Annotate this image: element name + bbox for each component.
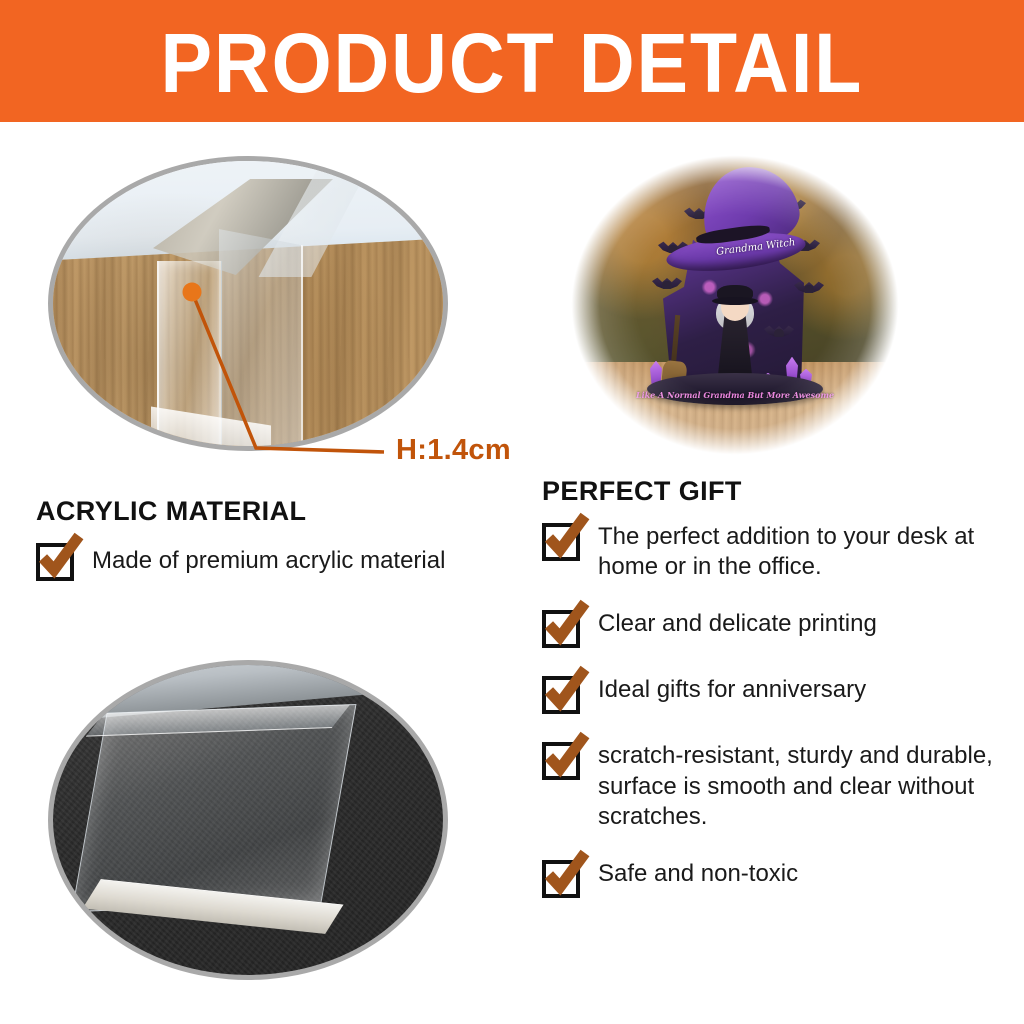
section-perfect-gift: PERFECT GIFT The perfect addition to you… [542, 476, 1012, 924]
checkmark-icon [540, 511, 592, 563]
section-acrylic-material: ACRYLIC MATERIAL Made of premium acrylic… [36, 496, 536, 581]
list-item: scratch-resistant, sturdy and durable, s… [542, 740, 1012, 832]
checkbox-checked-icon[interactable] [36, 543, 74, 581]
page-title: PRODUCT DETAIL [161, 21, 864, 105]
checkmark-icon [540, 730, 592, 782]
photo-product-standee: Grandma Witch Like A Normal Grandma But … [570, 154, 900, 456]
list-item: The perfect addition to your desk at hom… [542, 521, 1012, 582]
standee-base-text: Like A Normal Grandma But More Awesome [636, 390, 834, 400]
checkmark-icon [540, 848, 592, 900]
checkmark-icon [34, 531, 86, 583]
list-item-label: Made of premium acrylic material [92, 545, 445, 576]
photo-acrylic-slab-on-slate [48, 660, 448, 980]
checkbox-checked-icon[interactable] [542, 860, 580, 898]
checkmark-icon [540, 664, 592, 716]
feature-list-acrylic-material: Made of premium acrylic material [36, 541, 536, 581]
list-item: Ideal gifts for anniversary [542, 674, 1012, 714]
checkbox-checked-icon[interactable] [542, 742, 580, 780]
photo-acrylic-edge-on-wood [48, 156, 448, 451]
section-heading-perfect-gift: PERFECT GIFT [542, 476, 1012, 507]
checkbox-checked-icon[interactable] [542, 523, 580, 561]
list-item-label: Clear and delicate printing [598, 608, 877, 639]
list-item-label: scratch-resistant, sturdy and durable, s… [598, 740, 1012, 832]
feature-list-perfect-gift: The perfect addition to your desk at hom… [542, 521, 1012, 898]
section-heading-acrylic-material: ACRYLIC MATERIAL [36, 496, 536, 527]
list-item: Safe and non-toxic [542, 858, 1012, 898]
grandma-witch-figure [708, 271, 762, 389]
list-item-label: Safe and non-toxic [598, 858, 798, 889]
header-banner: PRODUCT DETAIL [0, 0, 1024, 122]
checkbox-checked-icon[interactable] [542, 676, 580, 714]
standee-base [647, 373, 823, 405]
list-item-label: The perfect addition to your desk at hom… [598, 521, 1012, 582]
list-item-label: Ideal gifts for anniversary [598, 674, 866, 705]
acrylic-block-side-face [219, 229, 303, 451]
list-item: Clear and delicate printing [542, 608, 1012, 648]
witch-small-hat [717, 285, 753, 301]
checkbox-checked-icon[interactable] [542, 610, 580, 648]
witch-house-standee: Grandma Witch Like A Normal Grandma But … [644, 173, 826, 405]
height-label: H:1.4cm [396, 434, 511, 467]
list-item: Made of premium acrylic material [36, 541, 536, 581]
checkmark-icon [540, 598, 592, 650]
